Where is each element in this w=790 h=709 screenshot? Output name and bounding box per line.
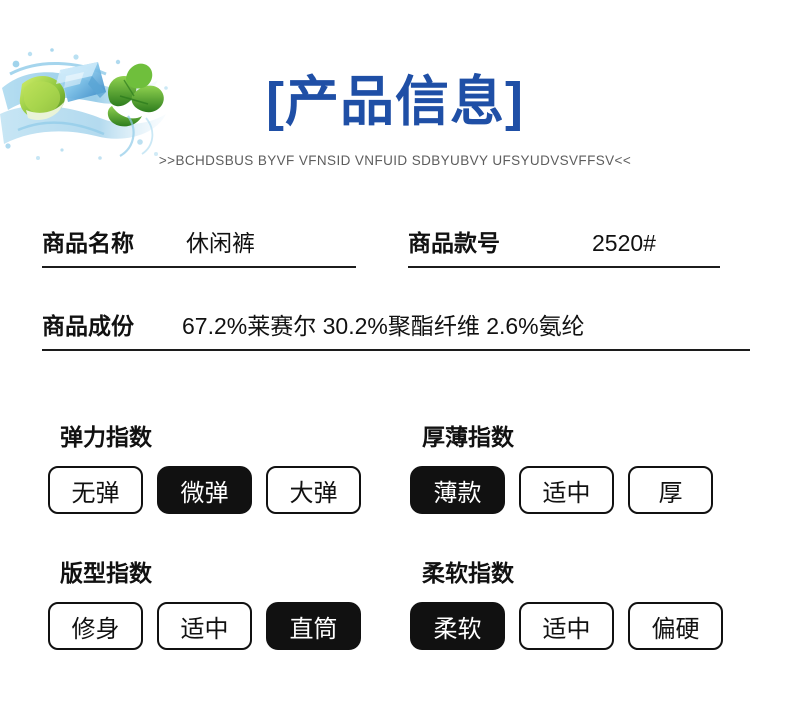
index-title-fit: 版型指数 — [60, 554, 361, 588]
spec-value-name: 休闲裤 — [186, 224, 255, 258]
index-option-softness-1[interactable]: 柔软 — [410, 602, 505, 650]
index-option-thickness-2[interactable]: 适中 — [519, 466, 614, 514]
spec-label-model: 商品款号 — [408, 224, 500, 258]
spec-label-composition: 商品成份 — [42, 307, 134, 341]
spec-row-model: 商品款号 2520# — [408, 224, 656, 258]
index-block-thickness: 厚薄指数 薄款 适中 厚 — [410, 418, 713, 514]
index-title-elasticity: 弹力指数 — [60, 418, 361, 452]
index-options-elasticity: 无弹 微弹 大弹 — [48, 466, 361, 514]
index-option-fit-3[interactable]: 直筒 — [266, 602, 361, 650]
page-title: [产品信息] — [0, 72, 790, 132]
index-options-thickness: 薄款 适中 厚 — [410, 466, 713, 514]
index-option-softness-2[interactable]: 适中 — [519, 602, 614, 650]
index-option-elasticity-3[interactable]: 大弹 — [266, 466, 361, 514]
index-option-elasticity-1[interactable]: 无弹 — [48, 466, 143, 514]
index-title-thickness: 厚薄指数 — [422, 418, 713, 452]
index-options-fit: 修身 适中 直筒 — [48, 602, 361, 650]
index-title-softness: 柔软指数 — [422, 554, 723, 588]
index-options-softness: 柔软 适中 偏硬 — [410, 602, 723, 650]
index-block-softness: 柔软指数 柔软 适中 偏硬 — [410, 554, 723, 650]
spec-label-name: 商品名称 — [42, 224, 134, 258]
index-option-fit-1[interactable]: 修身 — [48, 602, 143, 650]
index-option-thickness-1[interactable]: 薄款 — [410, 466, 505, 514]
spec-row-name: 商品名称 休闲裤 — [42, 224, 255, 258]
page-subtitle: >>BCHDSBUS BYVF VFNSID VNFUID SDBYUBVY U… — [0, 152, 790, 170]
index-option-elasticity-2[interactable]: 微弹 — [157, 466, 252, 514]
divider-name — [42, 266, 356, 268]
index-block-fit: 版型指数 修身 适中 直筒 — [48, 554, 361, 650]
divider-model — [408, 266, 720, 268]
index-option-thickness-3[interactable]: 厚 — [628, 466, 713, 514]
index-option-softness-3[interactable]: 偏硬 — [628, 602, 723, 650]
spec-value-composition: 67.2%莱赛尔 30.2%聚酯纤维 2.6%氨纶 — [182, 307, 585, 341]
page-header: [产品信息] >>BCHDSBUS BYVF VFNSID VNFUID SDB… — [0, 0, 790, 200]
index-option-fit-2[interactable]: 适中 — [157, 602, 252, 650]
divider-composition — [42, 349, 750, 351]
product-info-page: [产品信息] >>BCHDSBUS BYVF VFNSID VNFUID SDB… — [0, 0, 790, 709]
spec-value-model: 2520# — [592, 230, 656, 257]
index-block-elasticity: 弹力指数 无弹 微弹 大弹 — [48, 418, 361, 514]
spec-row-composition: 商品成份 67.2%莱赛尔 30.2%聚酯纤维 2.6%氨纶 — [42, 307, 585, 341]
